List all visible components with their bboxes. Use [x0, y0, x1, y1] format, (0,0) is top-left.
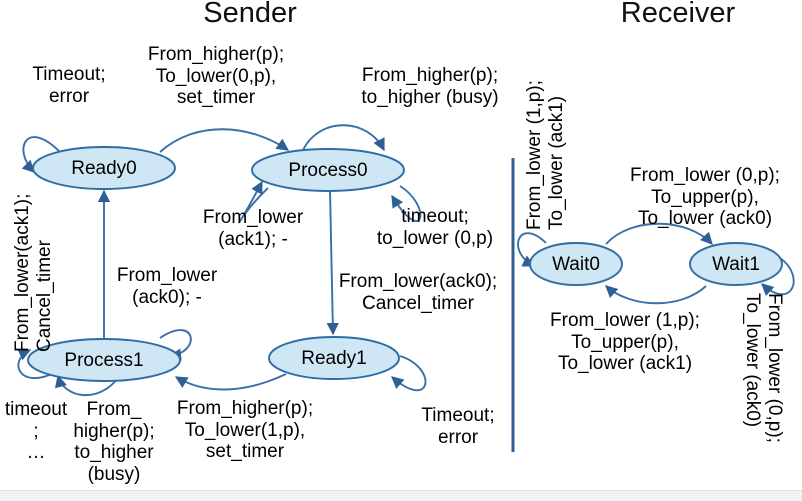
edge-ready0-to-process0: [160, 129, 288, 152]
edge-process0-self-top: [303, 125, 384, 150]
edge-ready1-to-process1: [176, 374, 286, 389]
state-label-wait0: Wait0: [536, 255, 616, 274]
state-label-process1: Process1: [54, 351, 154, 370]
label-wait0-self: From_lower (1,p); To_lower (ack1): [524, 30, 567, 230]
label-wait1-to-wait0: From_lower (1,p); To_upper(p), To_lower …: [520, 310, 730, 375]
label-wait0-to-wait1: From_lower (0,p); To_upper(p), To_lower …: [600, 165, 802, 230]
label-process0-self-left: From_lower (ack1); -: [188, 207, 318, 250]
label-process1-self-mid: From_ higher(p); to_higher (busy): [58, 399, 170, 486]
receiver-title: Receiver: [578, 0, 778, 28]
label-process1-to-ready0-vertical: From_lower(ack1); Cancel_timer: [12, 172, 55, 352]
label-process0-self-top: From_higher(p); to_higher (busy): [330, 65, 530, 108]
diagram-canvas: Sender Receiver Ready0 Process0 Process1…: [0, 0, 802, 501]
label-ready0-self: Timeout; error: [4, 64, 134, 107]
label-process1-to-ready0: From_lower (ack0); -: [100, 265, 234, 308]
state-label-wait1: Wait1: [696, 255, 776, 274]
label-process0-to-ready1: From_lower(ack0); Cancel_timer: [328, 271, 508, 314]
state-label-ready0: Ready0: [54, 159, 154, 178]
label-process0-self-right: timeout; to_lower (0,p): [360, 206, 510, 249]
bottom-band: [0, 490, 802, 501]
label-ready0-to-process0: From_higher(p); To_lower(0,p), set_timer: [126, 44, 306, 109]
label-ready1-to-process1: From_higher(p); To_lower(1,p), set_timer: [150, 398, 340, 463]
edge-wait1-to-wait0: [606, 286, 706, 303]
label-ready1-self: Timeout; error: [398, 405, 518, 448]
state-label-process0: Process0: [278, 161, 378, 180]
state-label-ready1: Ready1: [284, 349, 384, 368]
sender-title: Sender: [150, 0, 350, 28]
label-wait1-self: From_lower (0,p); To_lower (ack0): [742, 293, 785, 473]
